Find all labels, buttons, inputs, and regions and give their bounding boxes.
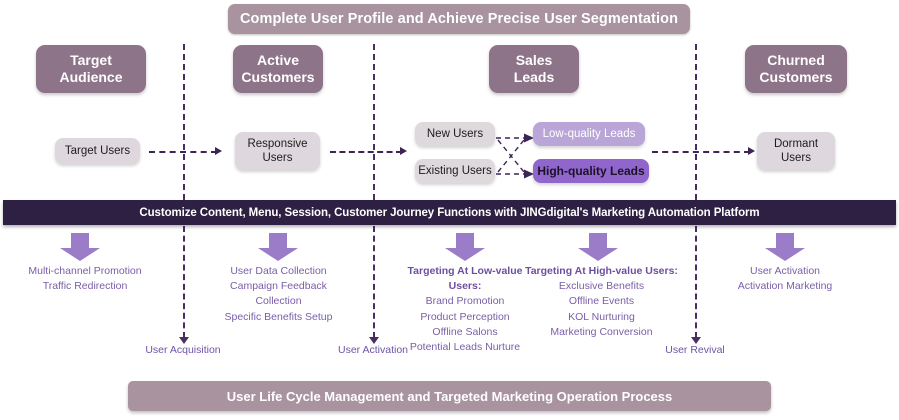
down-arrow-churned-customers bbox=[765, 233, 805, 261]
node-label-line1: Responsive bbox=[247, 137, 307, 151]
action-header: Targeting At Low-value Users: bbox=[391, 264, 539, 294]
milestone-user-activation: User Activation bbox=[313, 344, 433, 356]
action-line: User Activation bbox=[710, 264, 860, 279]
node-high-quality-leads[interactable]: High-quality Leads bbox=[533, 159, 649, 183]
node-responsive-users[interactable]: Responsive Users bbox=[235, 132, 320, 170]
action-line: Marketing Conversion bbox=[524, 325, 679, 340]
actions-high-value-leads: Targeting At High-value Users: Exclusive… bbox=[524, 264, 679, 340]
top-title-banner: Complete User Profile and Achieve Precis… bbox=[228, 4, 690, 34]
down-arrow-active-customers bbox=[258, 233, 298, 261]
actions-target-audience: Multi-channel Promotion Traffic Redirect… bbox=[10, 264, 160, 294]
stage-pill-churned-customers[interactable]: Churned Customers bbox=[745, 45, 847, 93]
divider-arrow-user-activation bbox=[369, 337, 379, 344]
stage-pill-target-audience[interactable]: Target Audience bbox=[36, 45, 146, 93]
action-line: Product Perception bbox=[391, 310, 539, 325]
divider-active-to-sales-lower bbox=[373, 226, 375, 338]
diagram-canvas: Complete User Profile and Achieve Precis… bbox=[0, 0, 899, 420]
divider-sales-to-churned-upper bbox=[695, 44, 697, 200]
stage-pill-active-customers[interactable]: Active Customers bbox=[233, 45, 323, 93]
node-label: Existing Users bbox=[418, 164, 492, 178]
stage-label-line1: Sales bbox=[516, 52, 553, 70]
connector-arrow-responsive-to-leads bbox=[400, 147, 407, 155]
stage-label-line1: Churned bbox=[767, 52, 825, 70]
connector-arrow-target-to-responsive bbox=[215, 147, 222, 155]
node-dormant-users[interactable]: Dormant Users bbox=[757, 132, 835, 170]
stage-label-line2: Customers bbox=[241, 69, 314, 87]
stage-label-line2: Customers bbox=[759, 69, 832, 87]
connector-target-to-responsive bbox=[149, 151, 217, 153]
divider-sales-to-churned-lower bbox=[695, 226, 697, 338]
node-target-users[interactable]: Target Users bbox=[55, 138, 140, 164]
divider-target-to-active-lower bbox=[183, 226, 185, 338]
bottom-summary-banner: User Life Cycle Management and Targeted … bbox=[128, 381, 771, 411]
node-existing-users[interactable]: Existing Users bbox=[415, 159, 495, 183]
divider-target-to-active-upper bbox=[183, 44, 185, 200]
action-line: Traffic Redirection bbox=[10, 279, 160, 294]
connector-arrow-leads-to-dormant bbox=[748, 147, 755, 155]
connector-leads-to-dormant bbox=[652, 151, 750, 153]
divider-arrow-user-acquisition bbox=[179, 337, 189, 344]
milestone-user-acquisition: User Acquisition bbox=[123, 344, 243, 356]
stage-pill-sales-leads[interactable]: Sales Leads bbox=[489, 45, 579, 93]
divider-arrow-user-revival bbox=[691, 337, 701, 344]
node-label: New Users bbox=[427, 127, 483, 141]
action-line: Activation Marketing bbox=[710, 279, 860, 294]
action-line: Brand Promotion bbox=[391, 294, 539, 309]
action-line: Exclusive Benefits bbox=[524, 279, 679, 294]
node-label-line2: Users bbox=[262, 151, 292, 165]
platform-banner: Customize Content, Menu, Session, Custom… bbox=[3, 200, 896, 225]
stage-label-line1: Target bbox=[70, 52, 112, 70]
node-label-line1: Dormant bbox=[774, 137, 818, 151]
divider-active-to-sales-upper bbox=[373, 44, 375, 200]
action-line: Offline Salons bbox=[391, 325, 539, 340]
actions-active-customers: User Data Collection Campaign Feedback C… bbox=[206, 264, 351, 325]
node-label: Target Users bbox=[65, 144, 130, 158]
action-line: Multi-channel Promotion bbox=[10, 264, 160, 279]
stage-label-line2: Audience bbox=[59, 69, 122, 87]
stage-label-line2: Leads bbox=[514, 69, 554, 87]
action-line: Specific Benefits Setup bbox=[206, 310, 351, 325]
actions-churned-customers: User Activation Activation Marketing bbox=[710, 264, 860, 294]
node-label: High-quality Leads bbox=[537, 164, 644, 179]
node-low-quality-leads[interactable]: Low-quality Leads bbox=[533, 122, 645, 146]
milestone-user-revival: User Revival bbox=[640, 344, 750, 356]
down-arrow-target-audience bbox=[60, 233, 100, 261]
node-label: Low-quality Leads bbox=[543, 127, 636, 141]
connector-responsive-to-leads bbox=[330, 151, 402, 153]
action-line: User Data Collection bbox=[206, 264, 351, 279]
action-line: Campaign Feedback Collection bbox=[206, 279, 351, 309]
cross-connector-group bbox=[494, 126, 538, 182]
action-header: Targeting At High-value Users: bbox=[524, 264, 679, 279]
action-line: KOL Nurturing bbox=[524, 310, 679, 325]
stage-label-line1: Active bbox=[257, 52, 299, 70]
action-line: Offline Events bbox=[524, 294, 679, 309]
node-label-line2: Users bbox=[781, 151, 811, 165]
node-new-users[interactable]: New Users bbox=[415, 122, 495, 146]
down-arrow-low-value-leads bbox=[445, 233, 485, 261]
down-arrow-high-value-leads bbox=[578, 233, 618, 261]
actions-low-value-leads: Targeting At Low-value Users: Brand Prom… bbox=[391, 264, 539, 355]
